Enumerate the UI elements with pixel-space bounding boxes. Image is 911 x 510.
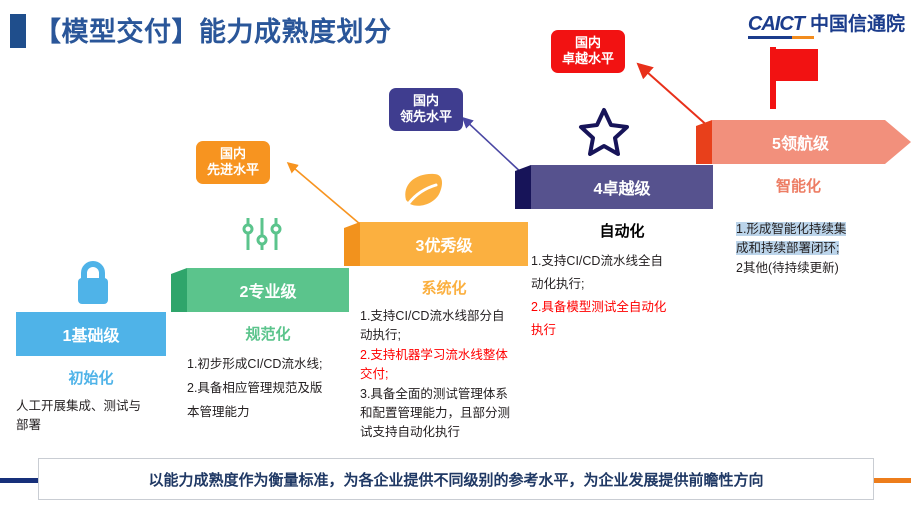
step-4[interactable]: 4卓越级 自动化 1.支持CI/CD流水线全自 动化执行; 2.具备模型测试全自… xyxy=(531,165,713,343)
step-5-bar-side xyxy=(696,120,712,164)
sliders-icon xyxy=(240,216,284,265)
callout-advanced[interactable]: 国内 先进水平 xyxy=(196,141,270,184)
step-5-body: 1.形成智能化持续集 成和持续部署闭环; 2其他(待持续更新) xyxy=(736,220,911,278)
step-2-body: 1.初步形成CI/CD流水线; 2.具备相应管理规范及版 本管理能力 xyxy=(187,353,349,424)
banner-right-line xyxy=(869,478,911,483)
step-5-line-1: 1.形成智能化持续集 xyxy=(736,222,846,236)
step-3-subtitle: 系统化 xyxy=(360,277,528,298)
step-4-bar-side xyxy=(515,165,531,209)
callout-advanced-line1: 国内 xyxy=(207,146,259,162)
step-4-line-2: 动化执行; xyxy=(531,273,713,296)
step-2-line-3: 本管理能力 xyxy=(187,401,349,425)
page-title: 【模型交付】能力成熟度划分 xyxy=(34,10,392,49)
callout-advanced-line2: 先进水平 xyxy=(207,162,259,178)
step-1-bar: 1基础级 xyxy=(16,312,166,356)
summary-banner: 以能力成熟度作为衡量标准，为各企业提供不同级别的参考水平，为企业发展提供前瞻性方… xyxy=(38,458,874,500)
step-3-bar: 3优秀级 xyxy=(360,222,528,266)
step-2[interactable]: 2专业级 规范化 1.初步形成CI/CD流水线; 2.具备相应管理规范及版 本管… xyxy=(187,268,349,424)
star-outline-icon xyxy=(578,106,630,161)
step-3-line-5: 3.具备全面的测试管理体系 xyxy=(360,385,528,404)
logo-en-text: CAICT xyxy=(748,14,804,34)
step-1-title: 1基础级 xyxy=(63,322,120,346)
step-3-bar-side xyxy=(344,222,360,266)
step-3-line-3: 2.支持机器学习流水线整体 xyxy=(360,346,528,365)
step-3-line-2: 动执行; xyxy=(360,326,528,345)
step-5-line-2: 成和持续部署闭环; xyxy=(736,241,839,255)
logo-cn-text: 中国信通院 xyxy=(810,15,905,34)
step-2-subtitle: 规范化 xyxy=(187,323,349,344)
callout-leading[interactable]: 国内 领先水平 xyxy=(389,88,463,131)
step-2-title: 2专业级 xyxy=(240,278,297,302)
step-1[interactable]: 1基础级 初始化 人工开展集成、测试与 部署 xyxy=(16,312,166,436)
step-3[interactable]: 3优秀级 系统化 1.支持CI/CD流水线部分自 动执行; 2.支持机器学习流水… xyxy=(360,222,528,443)
step-4-body: 1.支持CI/CD流水线全自 动化执行; 2.具备模型测试全自动化 执行 xyxy=(531,250,713,343)
step-3-line-4: 交付; xyxy=(360,365,528,384)
step-5-subtitle: 智能化 xyxy=(712,175,885,196)
callout-leading-line1: 国内 xyxy=(400,93,452,109)
step-2-line-2: 2.具备相应管理规范及版 xyxy=(187,377,349,401)
step-3-body: 1.支持CI/CD流水线部分自 动执行; 2.支持机器学习流水线整体 交付; 3… xyxy=(360,307,528,443)
step-3-line-7: 试支持自动化执行 xyxy=(360,423,528,442)
callout-leading-line2: 领先水平 xyxy=(400,109,452,125)
step-3-line-1: 1.支持CI/CD流水线部分自 xyxy=(360,307,528,326)
logo-underline xyxy=(748,36,814,39)
step-1-body: 人工开展集成、测试与 部署 xyxy=(16,397,166,436)
step-5-title: 5领航级 xyxy=(772,130,829,154)
step-1-subtitle: 初始化 xyxy=(16,367,166,388)
step-5-bar: 5领航级 xyxy=(712,120,911,164)
leaf-icon xyxy=(400,170,446,217)
lock-icon xyxy=(73,259,113,310)
step-2-bar: 2专业级 xyxy=(187,268,349,312)
step-4-line-1: 1.支持CI/CD流水线全自 xyxy=(531,250,713,273)
step-1-line-2: 部署 xyxy=(16,416,166,435)
banner-left-line xyxy=(0,478,42,483)
caict-logo: CAICT 中国信通院 xyxy=(748,14,905,39)
step-4-subtitle: 自动化 xyxy=(531,220,713,241)
callout-excellent-line2: 卓越水平 xyxy=(562,51,614,67)
step-3-line-6: 和配置管理能力，且部分测 xyxy=(360,404,528,423)
callout-excellent-line1: 国内 xyxy=(562,35,614,51)
title-accent-bar xyxy=(10,14,26,48)
step-4-bar: 4卓越级 xyxy=(531,165,713,209)
summary-banner-text: 以能力成熟度作为衡量标准，为各企业提供不同级别的参考水平，为企业发展提供前瞻性方… xyxy=(148,469,763,490)
step-5[interactable]: 5领航级 智能化 1.形成智能化持续集 成和持续部署闭环; 2其他(待持续更新) xyxy=(712,120,911,278)
step-1-line-1: 人工开展集成、测试与 xyxy=(16,397,166,416)
step-2-line-1: 1.初步形成CI/CD流水线; xyxy=(187,353,349,377)
step-2-bar-side xyxy=(171,268,187,312)
step-5-line-3: 2其他(待持续更新) xyxy=(736,259,911,278)
step-3-title: 3优秀级 xyxy=(416,232,473,256)
callout-excellent[interactable]: 国内 卓越水平 xyxy=(551,30,625,73)
slide-canvas: 【模型交付】能力成熟度划分 CAICT 中国信通院 xyxy=(0,0,911,510)
step-4-line-3: 2.具备模型测试全自动化 xyxy=(531,296,713,319)
step-4-title: 4卓越级 xyxy=(594,175,651,199)
red-flag-icon xyxy=(766,47,820,109)
step-4-line-4: 执行 xyxy=(531,319,713,342)
